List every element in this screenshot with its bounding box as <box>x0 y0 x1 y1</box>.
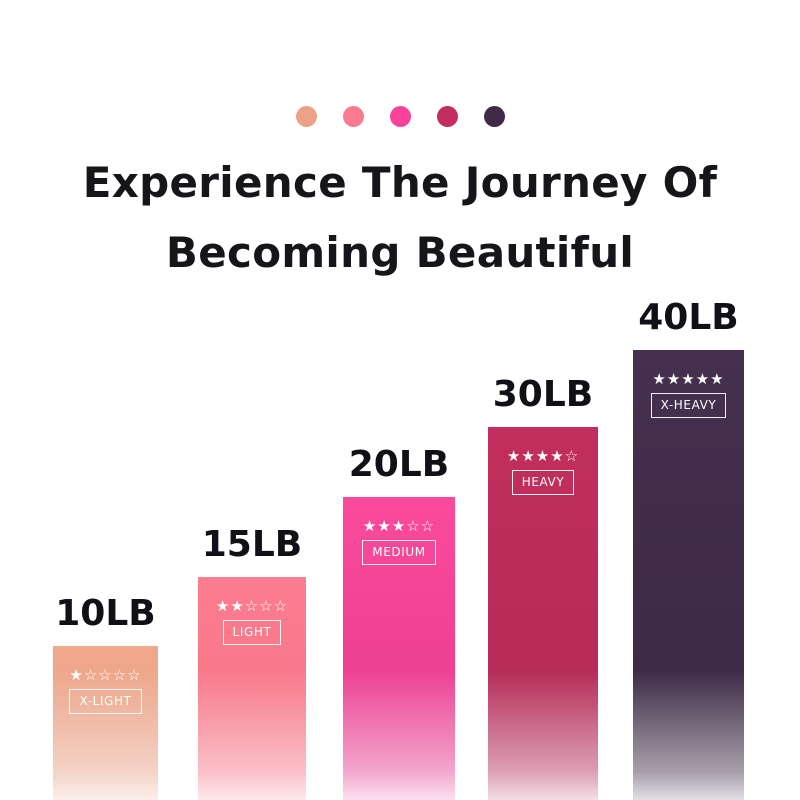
resistance-level-label: X-HEAVY <box>651 393 727 418</box>
bar-value-label: 30LB <box>448 377 638 413</box>
resistance-bar-chart: ★☆☆☆☆X-LIGHT10LB★★☆☆☆LIGHT15LB★★★☆☆MEDIU… <box>0 0 800 800</box>
bar-badge: ★★☆☆☆LIGHT <box>198 599 306 645</box>
resistance-level-label: MEDIUM <box>362 540 435 565</box>
bar-group[interactable]: ★★☆☆☆LIGHT15LB <box>198 577 306 800</box>
bar-bottom-fade <box>198 670 306 800</box>
bar-value-label: 20LB <box>303 447 495 483</box>
bar-value-label: 40LB <box>593 300 784 336</box>
bar-value-label: 15LB <box>158 527 346 563</box>
product-infographic-poster: Experience The Journey Of Becoming Beaut… <box>0 0 800 800</box>
bar-badge: ★★★☆☆MEDIUM <box>343 519 455 565</box>
resistance-level-label: HEAVY <box>512 470 575 495</box>
resistance-level-label: X-LIGHT <box>69 689 141 714</box>
bar-badge: ★★★★☆HEAVY <box>488 449 598 495</box>
star-rating-icon: ★★★★★ <box>652 372 724 387</box>
star-rating-icon: ★★☆☆☆ <box>216 599 288 614</box>
star-rating-icon: ★☆☆☆☆ <box>69 668 141 683</box>
bar-group[interactable]: ★★★★☆HEAVY30LB <box>488 427 598 800</box>
bar-badge: ★☆☆☆☆X-LIGHT <box>53 668 158 714</box>
bar-bottom-fade <box>343 670 455 800</box>
bar-bottom-fade <box>488 670 598 800</box>
bar-group[interactable]: ★★★☆☆MEDIUM20LB <box>343 497 455 800</box>
star-rating-icon: ★★★☆☆ <box>363 519 435 534</box>
resistance-level-label: LIGHT <box>223 620 282 645</box>
bar-value-label: 10LB <box>13 596 198 632</box>
bar-badge: ★★★★★X-HEAVY <box>633 372 744 418</box>
star-rating-icon: ★★★★☆ <box>507 449 579 464</box>
bar-group[interactable]: ★★★★★X-HEAVY40LB <box>633 350 744 800</box>
bar-group[interactable]: ★☆☆☆☆X-LIGHT10LB <box>53 646 158 800</box>
bar-bottom-fade <box>633 670 744 800</box>
